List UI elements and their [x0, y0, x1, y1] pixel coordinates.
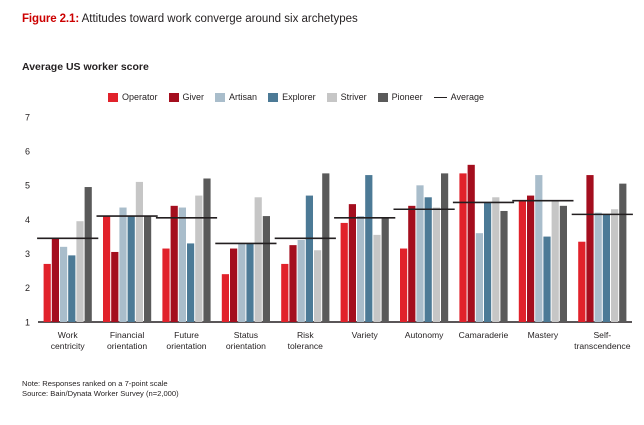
bar-pioneer	[382, 218, 389, 322]
bar-explorer	[425, 197, 432, 322]
bar-artisan	[119, 208, 126, 322]
bar-explorer	[365, 175, 372, 322]
bar-group: Self-transcendence	[572, 175, 633, 351]
source-text: Source: Bain/Dynata Worker Survey (n=2,0…	[22, 389, 179, 399]
bar-artisan	[416, 185, 423, 322]
x-axis-tick-label: Variety	[352, 330, 379, 340]
bar-operator	[281, 264, 288, 322]
chart-plot-area: 1234567WorkcentricityFinancialorientatio…	[0, 0, 644, 425]
grouped-bar-chart: 1234567WorkcentricityFinancialorientatio…	[0, 0, 644, 425]
bar-striver	[136, 182, 143, 322]
x-axis-tick-label: orientation	[226, 341, 266, 351]
bar-group: Futureorientation	[156, 179, 217, 352]
bar-giver	[171, 206, 178, 322]
bar-giver	[527, 196, 534, 322]
bar-explorer	[187, 243, 194, 322]
x-axis-tick-label: Self-	[593, 330, 611, 340]
bar-artisan	[476, 233, 483, 322]
bar-artisan	[357, 216, 364, 322]
bar-pioneer	[85, 187, 92, 322]
x-axis-tick-label: Risk	[297, 330, 314, 340]
x-axis-tick-label: Status	[234, 330, 258, 340]
bar-explorer	[543, 237, 550, 322]
bar-artisan	[298, 240, 305, 322]
bar-pioneer	[144, 216, 151, 322]
bar-group: Mastery	[512, 175, 573, 340]
bar-pioneer	[619, 184, 626, 322]
x-axis-tick-label: Future	[174, 330, 199, 340]
bar-giver	[468, 165, 475, 322]
x-axis-tick-label: orientation	[166, 341, 206, 351]
bar-pioneer	[500, 211, 507, 322]
y-axis-tick-label: 4	[25, 215, 30, 225]
bar-striver	[611, 209, 618, 322]
x-axis-tick-label: Camaraderie	[459, 330, 509, 340]
x-axis-tick-label: Work	[58, 330, 79, 340]
bar-striver	[373, 235, 380, 322]
bar-group: Variety	[334, 175, 395, 340]
y-axis-tick-label: 5	[25, 181, 30, 191]
bar-operator	[400, 249, 407, 322]
bar-giver	[349, 204, 356, 322]
bar-group: Statusorientation	[215, 197, 276, 351]
bar-explorer	[246, 243, 253, 322]
figure-footnotes: Note: Responses ranked on a 7-point scal…	[22, 379, 179, 399]
bar-giver	[408, 206, 415, 322]
figure-page: Figure 2.1: Attitudes toward work conver…	[0, 0, 644, 425]
bar-operator	[103, 216, 110, 322]
bar-pioneer	[263, 216, 270, 322]
bar-operator	[222, 274, 229, 322]
bar-explorer	[128, 216, 135, 322]
bar-explorer	[68, 255, 75, 322]
bar-giver	[52, 238, 59, 322]
bar-artisan	[238, 243, 245, 322]
bar-operator	[578, 242, 585, 322]
bar-striver	[314, 250, 321, 322]
bar-giver	[111, 252, 118, 322]
bar-explorer	[484, 202, 491, 322]
x-axis-tick-label: centricity	[51, 341, 86, 351]
x-axis-tick-label: orientation	[107, 341, 147, 351]
bar-operator	[519, 201, 526, 322]
x-axis-tick-label: Autonomy	[405, 330, 444, 340]
bar-explorer	[603, 214, 610, 322]
bar-group: Autonomy	[394, 173, 455, 340]
bar-operator	[341, 223, 348, 322]
bar-striver	[255, 197, 262, 322]
bar-group: Financialorientation	[97, 182, 158, 351]
bar-explorer	[306, 196, 313, 322]
y-axis-tick-label: 6	[25, 147, 30, 157]
bar-artisan	[60, 247, 67, 322]
bar-striver	[552, 201, 559, 322]
bar-group: Risktolerance	[275, 173, 336, 351]
x-axis-tick-label: transcendence	[574, 341, 631, 351]
y-axis-tick-label: 2	[25, 283, 30, 293]
bar-artisan	[535, 175, 542, 322]
bar-pioneer	[441, 173, 448, 322]
x-axis-tick-label: tolerance	[288, 341, 324, 351]
bar-giver	[289, 245, 296, 322]
bar-striver	[492, 197, 499, 322]
bar-operator	[162, 249, 169, 322]
y-axis-tick-label: 1	[25, 317, 30, 327]
bar-striver	[195, 196, 202, 322]
bar-striver	[433, 208, 440, 322]
y-axis-tick-label: 3	[25, 249, 30, 259]
bar-pioneer	[203, 179, 210, 323]
bar-striver	[76, 221, 83, 322]
bar-operator	[44, 264, 51, 322]
bar-giver	[586, 175, 593, 322]
note-text: Note: Responses ranked on a 7-point scal…	[22, 379, 179, 389]
bar-artisan	[179, 208, 186, 322]
bar-artisan	[595, 213, 602, 322]
bar-pioneer	[322, 173, 329, 322]
x-axis-tick-label: Financial	[110, 330, 144, 340]
bar-group: Workcentricity	[37, 187, 98, 351]
bar-giver	[230, 249, 237, 322]
bar-operator	[459, 173, 466, 322]
bar-group: Camaraderie	[453, 165, 514, 340]
x-axis-tick-label: Mastery	[528, 330, 559, 340]
y-axis-tick-label: 7	[25, 112, 30, 122]
bar-pioneer	[560, 206, 567, 322]
